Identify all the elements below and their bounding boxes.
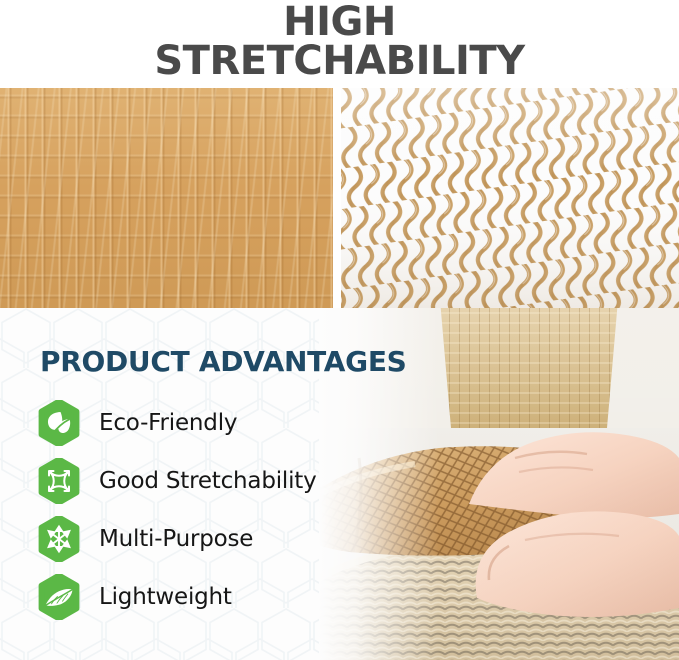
infographic-page: HIGH STRETCHABILITY [0,0,679,660]
advantage-item-multi-purpose: Multi-Purpose [36,510,317,568]
stretch-icon [36,458,82,504]
page-title: HIGH STRETCHABILITY [0,0,679,88]
advantages-list: Eco-Friendly [36,394,317,626]
advantage-item-lightweight: Lightweight [36,568,317,626]
advantages-section: PRODUCT ADVANTAGES Eco-Friendly [0,308,679,660]
advantages-heading: PRODUCT ADVANTAGES [40,345,407,378]
title-line-two: STRETCHABILITY [0,42,679,81]
title-line-one: HIGH [0,0,679,42]
advantage-label: Lightweight [99,584,232,610]
unstretched-honeycomb-texture [0,88,333,308]
feather-icon [36,574,82,620]
stretched-paper-panel [341,88,679,308]
multi-arrow-icon [36,516,82,562]
comparison-photo-band [0,88,679,308]
leaf-icon [36,400,82,446]
advantage-item-good-stretchability: Good Stretchability [36,452,317,510]
stretched-honeycomb-texture [341,88,679,308]
advantage-label: Multi-Purpose [99,526,253,552]
advantage-label: Eco-Friendly [99,410,237,436]
advantage-label: Good Stretchability [99,468,317,494]
advantage-item-eco-friendly: Eco-Friendly [36,394,317,452]
unstretched-paper-panel [0,88,333,308]
